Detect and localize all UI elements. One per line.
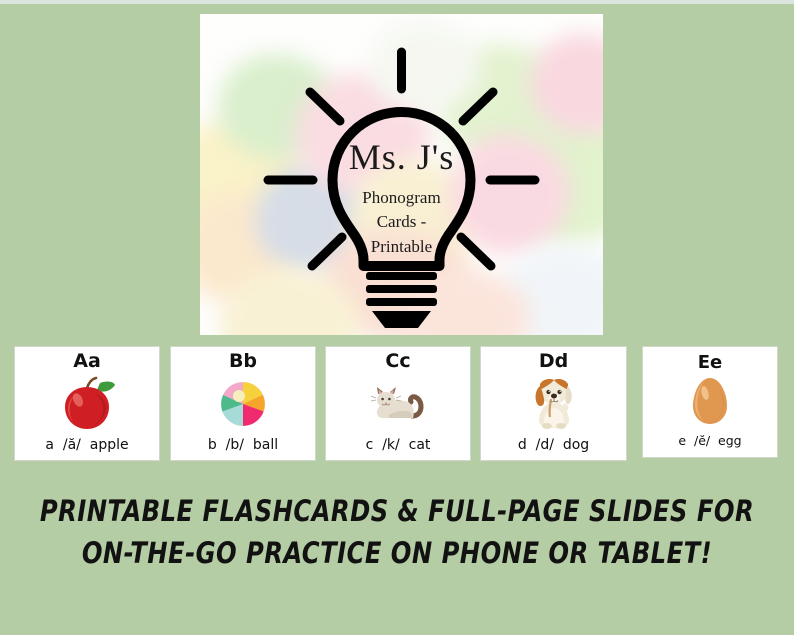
flashcard-phonogram: c /k/ cat <box>326 438 470 453</box>
flashcard-b[interactable]: Bb b /b/ ball <box>170 346 316 461</box>
beach-ball-icon <box>212 374 274 432</box>
caption-line-2: ON-THE-GO PRACTICE ON PHONE OR TABLET! <box>28 532 766 574</box>
flashcard-phonogram: b /b/ ball <box>171 438 315 453</box>
cover-image: Ms. J's Phonogram Cards - Printable <box>200 14 603 335</box>
flashcard-letter: Bb <box>171 351 315 372</box>
cat-icon <box>367 374 429 432</box>
flashcard-letter: Ee <box>643 353 777 373</box>
flashcard-d[interactable]: Dd <box>480 346 627 461</box>
promo-caption: PRINTABLE FLASHCARDS & FULL-PAGE SLIDES … <box>0 490 794 574</box>
lightbulb-icon <box>200 14 603 335</box>
flashcard-letter: Dd <box>481 351 626 372</box>
flashcard-c[interactable]: Cc <box>325 346 471 461</box>
flashcard-row: Aa a /ă/ apple Bb <box>0 346 794 462</box>
flashcard-a[interactable]: Aa a /ă/ apple <box>14 346 160 461</box>
caption-line-1: PRINTABLE FLASHCARDS & FULL-PAGE SLIDES … <box>28 490 766 532</box>
egg-icon <box>685 375 735 427</box>
dog-icon <box>523 374 585 432</box>
flashcard-phonogram: d /d/ dog <box>481 438 626 453</box>
flashcard-e[interactable]: Ee e /ĕ/ egg <box>642 346 778 458</box>
flashcard-phonogram: e /ĕ/ egg <box>643 434 777 448</box>
flashcard-letter: Aa <box>15 351 159 372</box>
flashcard-phonogram: a /ă/ apple <box>15 438 159 453</box>
flashcard-letter: Cc <box>326 351 470 372</box>
page-top-edge <box>0 0 794 4</box>
apple-icon <box>56 374 118 432</box>
